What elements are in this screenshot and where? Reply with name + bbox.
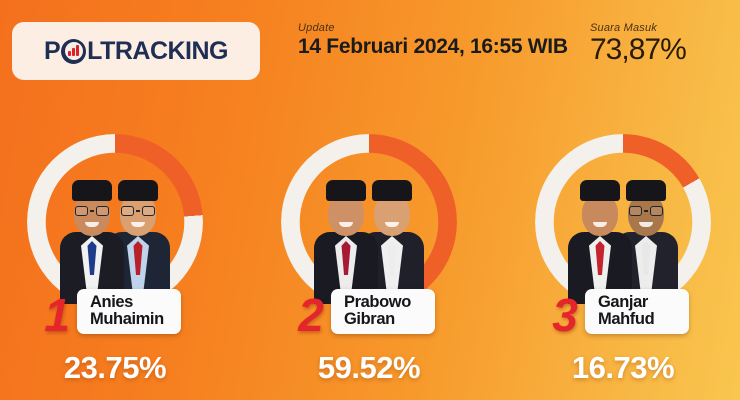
candidate-number-1: 1 xyxy=(44,292,70,338)
candidate-card-3[interactable]: 3 Ganjar Mahfud 16.73% xyxy=(500,104,740,400)
candidate-number-3: 3 xyxy=(552,292,578,338)
candidate-photos-2 xyxy=(294,154,444,304)
candidate-photos-3 xyxy=(548,154,698,304)
candidate-photo-prabowo xyxy=(313,176,379,304)
logo-wordmark: P LTRACKING xyxy=(44,37,228,66)
candidate-percent-3: 16.73% xyxy=(500,350,740,386)
candidate-nameplate-2: Prabowo Gibran xyxy=(331,289,435,334)
donut-chart-2 xyxy=(281,134,457,310)
update-label: Update xyxy=(298,22,568,34)
candidate-results: 1 Anies Muhaimin 23.75% xyxy=(0,104,740,400)
candidate-nameplate-1: Anies Muhaimin xyxy=(77,289,181,334)
candidate-percent-2: 59.52% xyxy=(246,350,492,386)
candidate-name-line1: Anies xyxy=(90,294,170,311)
candidate-nameplate-3: Ganjar Mahfud xyxy=(585,289,689,334)
candidate-name-line2: Gibran xyxy=(344,311,424,328)
header-bar: P LTRACKING Update 14 Februari 2024, 16:… xyxy=(0,0,740,100)
candidate-name-line1: Ganjar xyxy=(598,294,678,311)
update-block: Update 14 Februari 2024, 16:55 WIB xyxy=(298,22,568,59)
poltracking-logo[interactable]: P LTRACKING xyxy=(12,22,260,80)
candidate-number-2: 2 xyxy=(298,292,324,338)
donut-chart-1 xyxy=(27,134,203,310)
votes-counted-block: Suara Masuk 73,87% xyxy=(590,22,686,65)
logo-text-after: LTRACKING xyxy=(87,37,228,66)
candidate-photo-ganjar xyxy=(567,176,633,304)
candidate-card-1[interactable]: 1 Anies Muhaimin 23.75% xyxy=(0,104,238,400)
candidate-name-line2: Muhaimin xyxy=(90,311,170,328)
bar-chart-icon xyxy=(61,39,86,64)
candidate-name-line1: Prabowo xyxy=(344,294,424,311)
logo-text-before: P xyxy=(44,37,60,66)
votes-counted-value: 73,87% xyxy=(590,35,686,65)
candidate-name-line2: Mahfud xyxy=(598,311,678,328)
donut-chart-3 xyxy=(535,134,711,310)
update-timestamp: 14 Februari 2024, 16:55 WIB xyxy=(298,35,568,59)
candidate-photos-1 xyxy=(40,154,190,304)
candidate-percent-1: 23.75% xyxy=(0,350,238,386)
candidate-photo-anies xyxy=(59,176,125,304)
candidate-card-2[interactable]: 2 Prabowo Gibran 59.52% xyxy=(246,104,492,400)
